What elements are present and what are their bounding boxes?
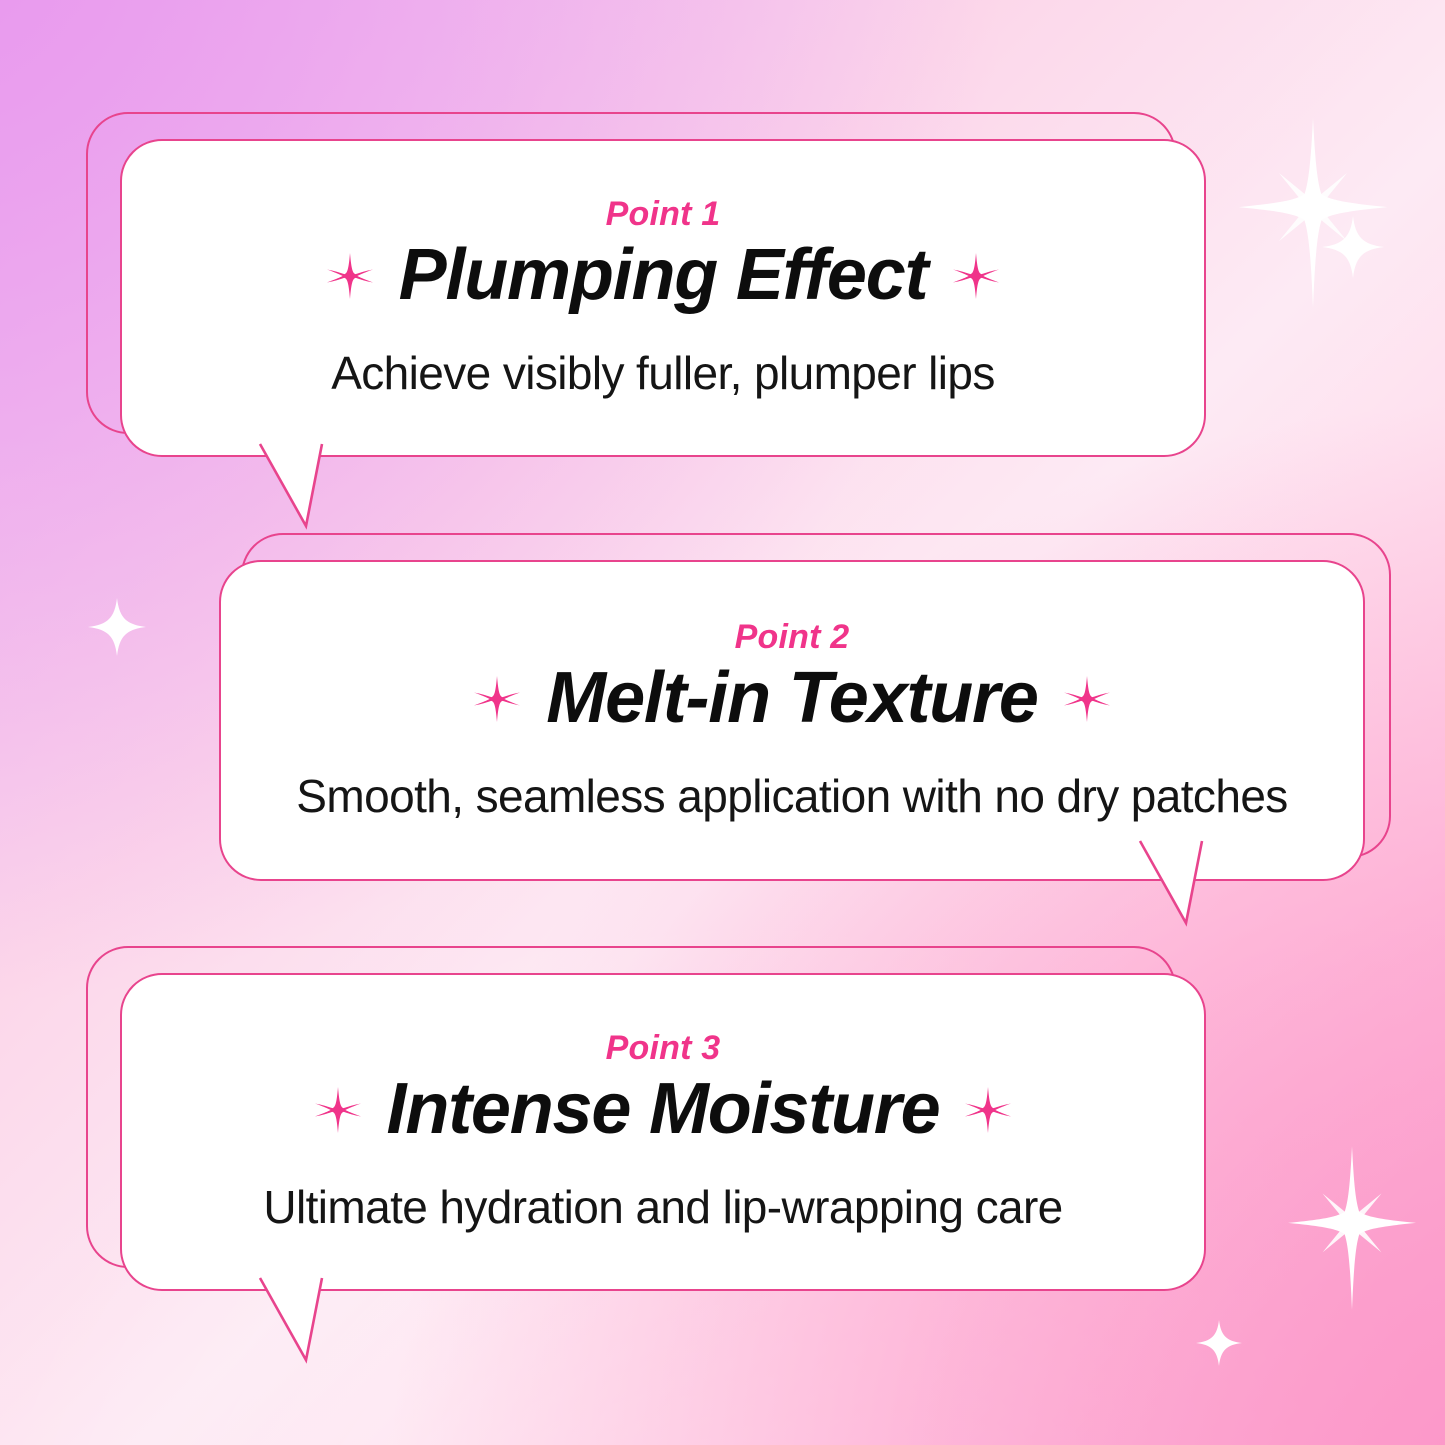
card-front-panel: Point 2 Melt-in Texture Smooth, seamle [219,560,1365,881]
point-card-2: Point 2 Melt-in Texture Smooth, seamle [219,533,1387,881]
card-front-panel: Point 1 Plumping Effect Achieve visibl [120,139,1206,457]
sparkle-star-icon [315,1087,361,1133]
point-card-1: Point 1 Plumping Effect Achieve visibl [86,112,1206,457]
sparkle-star-icon [474,676,520,722]
headline-row: Plumping Effect [327,237,1000,315]
card-headline: Melt-in Texture [546,660,1037,738]
card-headline: Intense Moisture [387,1071,940,1149]
sparkle-star-icon [953,253,999,299]
card-subline: Smooth, seamless application with no dry… [296,768,1287,826]
card-headline: Plumping Effect [399,237,928,315]
point-label: Point 3 [606,1031,721,1065]
sparkle-4point-icon [1322,216,1384,278]
card-front-panel: Point 3 Intense Moisture Ultimate hydr [120,973,1206,1291]
speech-bubble-tail [256,1276,326,1362]
sparkle-star-icon [1064,676,1110,722]
headline-row: Melt-in Texture [474,660,1109,738]
headline-row: Intense Moisture [315,1071,1012,1149]
speech-bubble-tail [1136,839,1206,925]
point-card-3: Point 3 Intense Moisture Ultimate hydr [86,946,1206,1291]
point-label: Point 2 [735,620,850,654]
sparkle-8point-icon [1238,118,1388,308]
sparkle-star-icon [327,253,373,299]
sparkle-8point-icon [1288,1146,1416,1310]
sparkle-star-icon [965,1087,1011,1133]
sparkle-4point-icon [88,598,146,656]
card-subline: Ultimate hydration and lip-wrapping care [263,1179,1062,1237]
point-label: Point 1 [606,197,721,231]
sparkle-4point-icon [1196,1320,1242,1366]
card-subline: Achieve visibly fuller, plumper lips [331,345,995,403]
speech-bubble-tail [256,442,326,528]
poster-canvas: Point 1 Plumping Effect Achieve visibl [0,0,1445,1445]
